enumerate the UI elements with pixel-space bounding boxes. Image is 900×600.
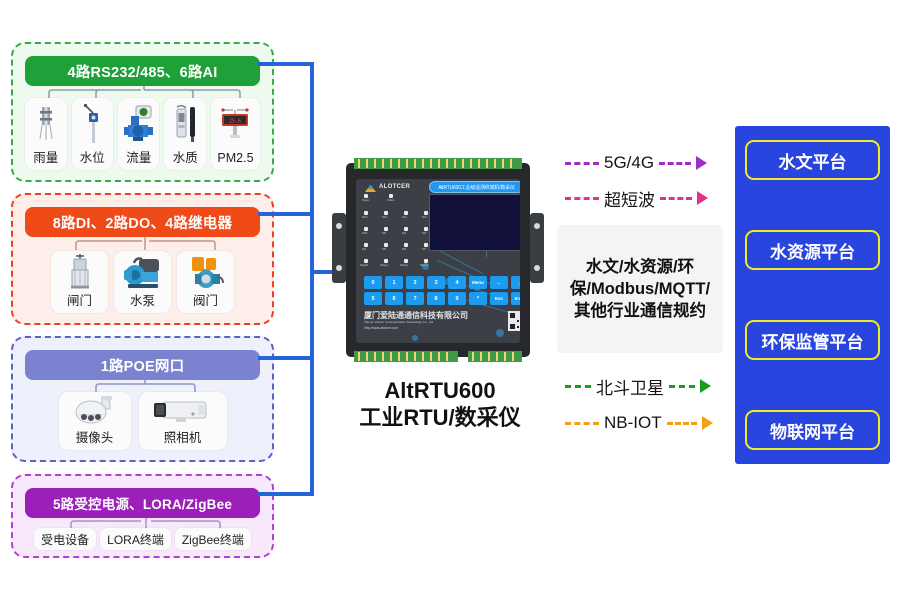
device-card-label: 雨量 <box>33 151 58 167</box>
bus-vertical <box>310 62 314 496</box>
terminal-strip-bottom-right <box>468 351 522 362</box>
device-faceplate: ALOTCER AltRTU600工业级遥测终端机/数采仪 Power Onli… <box>356 179 520 343</box>
dash-line-left <box>565 422 599 425</box>
led-label: Rxd <box>422 216 427 219</box>
dash-line-right <box>669 385 695 388</box>
keypad-key[interactable]: 2 <box>406 276 424 289</box>
dash-line-right <box>659 162 691 165</box>
io-block-header-power-lora-zigbee: 5路受控电源、LORA/ZigBee <box>25 488 260 518</box>
diagram-canvas: 4路RS232/485、6路AI 雨量 水位 流量 <box>0 0 900 600</box>
device-card[interactable]: 照相机 <box>139 392 227 450</box>
led-label: Relay1 <box>380 264 388 267</box>
device-card-label: 水质 <box>173 151 198 167</box>
device-card-label: 照相机 <box>164 431 202 447</box>
comm-nbiot: NB-IOT <box>565 412 713 434</box>
io-block-header-poe-port: 1路POE网口 <box>25 350 260 380</box>
device-brand-label: ALOTCER <box>379 184 410 190</box>
keypad-key-esc[interactable]: Esc <box>490 292 508 305</box>
comm-beidou: 北斗卫星 <box>565 375 711 397</box>
device-website: http://www.alotcer.com <box>364 326 398 330</box>
device-model-bar: AltRTU600工业级遥测终端机/数采仪 <box>429 181 520 193</box>
io-block-di-do-relay: 8路DI、2路DO、4路继电器 闸门 水泵 阀门 <box>11 193 274 325</box>
protocol-box: 水文/水资源/环保/Modbus/MQTT/其他行业通信规约 <box>557 225 723 353</box>
water-pump-icon <box>114 251 171 294</box>
device-card-label: 阀门 <box>193 294 218 310</box>
led-label: DI3 <box>422 232 426 235</box>
device-card-label: 水泵 <box>130 294 155 310</box>
terminal-strip-bottom-left <box>354 351 458 362</box>
led-label: DI0 <box>382 232 386 235</box>
arrow-head-icon <box>702 416 713 430</box>
device-title-type: 工业RTU/数采仪 <box>330 405 550 432</box>
io-block-poe-port: 1路POE网口 摄像头 照相机 <box>11 336 274 462</box>
bus-stub-block3 <box>258 356 314 360</box>
dash-line-right <box>667 422 697 425</box>
led-label: Online <box>387 199 395 202</box>
device-card-label: 闸门 <box>67 294 92 310</box>
io-block-items-serial-ai: 雨量 水位 流量 水质 25 <box>25 100 260 170</box>
led-label: DIn1 <box>382 216 387 219</box>
comm-uhf: 超短波 <box>565 187 708 209</box>
io-block-power-lora-zigbee: 5路受控电源、LORA/ZigBee 受电设备 LORA终端 ZigBee终端 <box>11 474 274 558</box>
terminal-strip-top <box>354 158 522 169</box>
led-label: DI5 <box>382 248 386 251</box>
dash-line-left <box>565 162 599 165</box>
keypad-key[interactable]: 1 <box>385 276 403 289</box>
device-card[interactable]: 流量 <box>118 98 159 170</box>
keypad-key[interactable]: 0 <box>364 276 382 289</box>
device-card[interactable]: 摄像头 <box>59 392 131 450</box>
comm-label: 5G/4G <box>604 153 654 173</box>
keypad-key[interactable]: 8 <box>427 292 445 305</box>
arrow-head-icon <box>697 191 708 205</box>
io-block-serial-ai: 4路RS232/485、6路AI 雨量 水位 流量 <box>11 42 274 182</box>
led-label: DI4 <box>362 248 366 251</box>
device-card[interactable]: 水质 <box>164 98 205 170</box>
device-card-label: PM2.5 <box>217 151 253 167</box>
platform-item-environment[interactable]: 环保监管平台 <box>745 320 880 360</box>
terminal-chip[interactable]: LORA终端 <box>100 528 171 550</box>
device-card[interactable]: 水泵 <box>114 251 171 313</box>
device-title: AltRTU600 工业RTU/数采仪 <box>330 378 550 432</box>
terminal-chip[interactable]: ZigBee终端 <box>175 528 251 550</box>
keypad-key[interactable]: 6 <box>385 292 403 305</box>
platform-item-iot[interactable]: 物联网平台 <box>745 410 880 450</box>
flow-meter-icon <box>118 98 159 151</box>
comm-label: 北斗卫星 <box>596 374 664 399</box>
device-card[interactable]: 25.6 PM2.5 <box>211 98 260 170</box>
valve-icon <box>177 251 234 294</box>
arrow-head-icon <box>700 379 711 393</box>
keypad-key[interactable]: 3 <box>427 276 445 289</box>
device-card-label: 流量 <box>126 151 151 167</box>
keypad-key[interactable]: 5 <box>364 292 382 305</box>
bus-stub-block2 <box>258 212 314 216</box>
io-block-items-poe-port: 摄像头 照相机 <box>25 394 260 450</box>
led-label: DIn0 <box>362 216 367 219</box>
device-title-model: AltRTU600 <box>330 378 550 405</box>
platform-item-water-resources[interactable]: 水资源平台 <box>745 230 880 270</box>
io-block-items-power-lora-zigbee: 受电设备 LORA终端 ZigBee终端 <box>25 528 260 550</box>
box-camera-icon <box>139 392 227 431</box>
led-label: Relay2 <box>400 264 408 267</box>
svg-text:25.6: 25.6 <box>229 119 241 125</box>
device-body: ALOTCER AltRTU600工业级遥测终端机/数采仪 Power Onli… <box>346 163 530 357</box>
device-card[interactable]: 阀门 <box>177 251 234 313</box>
io-block-items-di-do-relay: 闸门 水泵 阀门 <box>25 251 260 313</box>
sluice-gate-icon <box>51 251 108 294</box>
led-label: DO0 <box>362 232 367 235</box>
device-card-label: 水位 <box>80 151 105 167</box>
led-label: DI2 <box>402 232 406 235</box>
keypad-key-menu[interactable]: Menu <box>469 276 487 289</box>
led-label: DI7 <box>422 248 426 251</box>
device-company-en: Xiamen Alotcer Communication Technology … <box>364 320 433 324</box>
mount-ear-left <box>332 213 346 283</box>
keypad-key-left[interactable]: ← <box>490 276 508 289</box>
io-block-header-di-do-relay: 8路DI、2路DO、4路继电器 <box>25 207 260 237</box>
pm25-monitor-icon: 25.6 <box>211 98 260 151</box>
rtu-device-image: ALOTCER AltRTU600工业级遥测终端机/数采仪 Power Onli… <box>332 155 544 365</box>
led-label: Power <box>362 199 369 202</box>
water-quality-probe-icon <box>164 98 205 151</box>
water-level-sensor-icon <box>72 98 113 151</box>
keypad-key[interactable]: 9 <box>448 292 466 305</box>
keypad-key[interactable]: 4 <box>448 276 466 289</box>
led-label: Run <box>402 216 407 219</box>
platform-item-hydrology[interactable]: 水文平台 <box>745 140 880 180</box>
platform-panel: 水文平台 水资源平台 环保监管平台 物联网平台 <box>735 126 890 464</box>
comm-label: NB-IOT <box>604 413 662 433</box>
keypad-key-right[interactable]: → <box>511 276 520 289</box>
bus-stub-block4 <box>258 492 314 496</box>
keypad-key[interactable]: 7 <box>406 292 424 305</box>
dash-line-left <box>565 197 599 200</box>
keypad-key-star[interactable]: * <box>469 292 487 305</box>
led-label: Relay0 <box>360 264 368 267</box>
led-label: Relay3 <box>420 264 428 267</box>
dash-line-right <box>660 197 692 200</box>
arrow-head-icon <box>696 156 707 170</box>
alotcer-logo-icon <box>364 183 377 193</box>
device-card-label: 摄像头 <box>76 431 114 447</box>
device-card[interactable]: 雨量 <box>25 98 66 170</box>
device-lcd-screen <box>429 194 520 251</box>
protocol-text: 水文/水资源/环保/Modbus/MQTT/其他行业通信规约 <box>557 256 723 322</box>
keypad-key-enter[interactable]: Enter <box>511 292 520 305</box>
comm-label: 超短波 <box>604 186 655 211</box>
terminal-chip[interactable]: 受电设备 <box>34 528 96 550</box>
bracket-connector <box>68 237 223 251</box>
io-block-header-serial-ai: 4路RS232/485、6路AI <box>25 56 260 86</box>
mount-ear-right <box>530 213 544 283</box>
led-label: DI6 <box>402 248 406 251</box>
rain-gauge-icon <box>25 98 66 151</box>
device-card[interactable]: 水位 <box>72 98 113 170</box>
comm-5g-4g: 5G/4G <box>565 152 707 174</box>
dash-line-left <box>565 385 591 388</box>
dome-camera-icon <box>59 392 131 431</box>
device-card[interactable]: 闸门 <box>51 251 108 313</box>
bus-stub-block1 <box>258 62 314 66</box>
qr-code-icon <box>508 311 520 331</box>
